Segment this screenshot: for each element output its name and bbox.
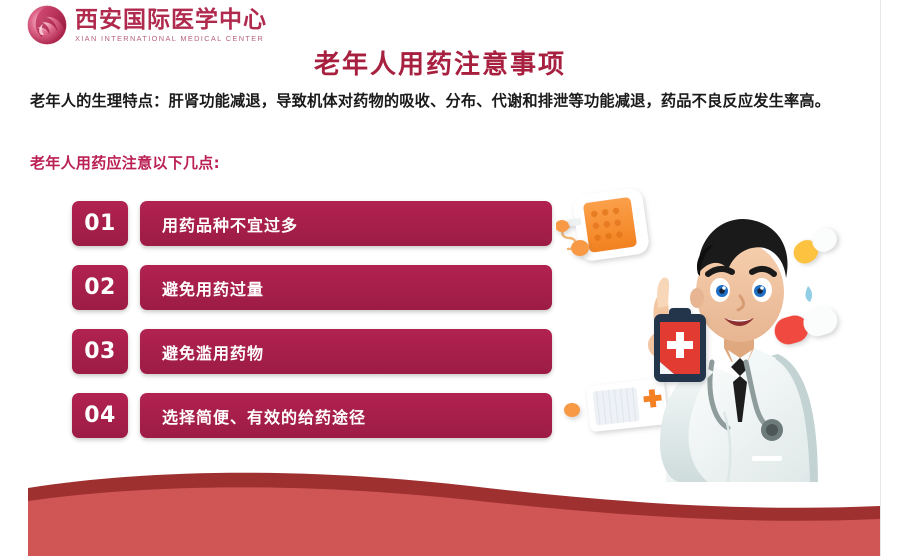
item-number-badge: 01	[72, 201, 128, 246]
red-capsule-icon	[771, 304, 840, 348]
item-bar[interactable]: 避免滥用药物	[140, 329, 552, 374]
list-item[interactable]: 04 选择简便、有效的给药途径	[72, 393, 552, 438]
bandage-box-icon	[586, 378, 668, 432]
bottom-wave-decoration	[0, 460, 898, 556]
swirl-lotus-logo-icon	[26, 4, 68, 46]
item-bar[interactable]: 选择简便、有效的给药途径	[140, 393, 552, 438]
yellow-capsule-icon	[789, 224, 841, 268]
cartoon-doctor-illustration	[556, 182, 876, 482]
header: 西安国际医学中心 XIAN INTERNATIONAL MEDICAL CENT…	[0, 0, 898, 50]
item-label: 用药品种不宜过多	[162, 212, 298, 236]
droplet-icon	[805, 286, 812, 302]
list-item[interactable]: 01 用药品种不宜过多	[72, 201, 552, 246]
section-subheading: 老年人用药应注意以下几点:	[30, 152, 220, 173]
item-label: 避免用药过量	[162, 276, 264, 300]
page-title: 老年人用药注意事项	[0, 44, 880, 81]
item-label: 避免滥用药物	[162, 340, 264, 364]
poster-page: 西安国际医学中心 XIAN INTERNATIONAL MEDICAL CENT…	[0, 0, 898, 556]
brand-name-cn: 西安国际医学中心	[75, 8, 267, 32]
item-bar[interactable]: 用药品种不宜过多	[140, 201, 552, 246]
item-number-badge: 04	[72, 393, 128, 438]
list-item[interactable]: 03 避免滥用药物	[72, 329, 552, 374]
item-number-badge: 02	[72, 265, 128, 310]
intro-paragraph: 老年人的生理特点：肝肾功能减退，导致机体对药物的吸收、分布、代谢和排泄等功能减退…	[30, 86, 865, 117]
list-item[interactable]: 02 避免用药过量	[72, 265, 552, 310]
item-number-badge: 03	[72, 329, 128, 374]
item-label: 选择简便、有效的给药途径	[162, 404, 366, 428]
doctor-figure-icon	[648, 219, 818, 482]
brand-name-en: XIAN INTERNATIONAL MEDICAL CENTER	[75, 34, 267, 43]
clipboard-cross-icon	[654, 308, 706, 382]
loose-pill-icon	[564, 403, 580, 417]
brand-logo[interactable]: 西安国际医学中心 XIAN INTERNATIONAL MEDICAL CENT…	[26, 4, 267, 46]
advice-list: 01 用药品种不宜过多 02 避免用药过量 03 避免滥用药物 04 选择简便、…	[72, 201, 552, 457]
item-bar[interactable]: 避免用药过量	[140, 265, 552, 310]
